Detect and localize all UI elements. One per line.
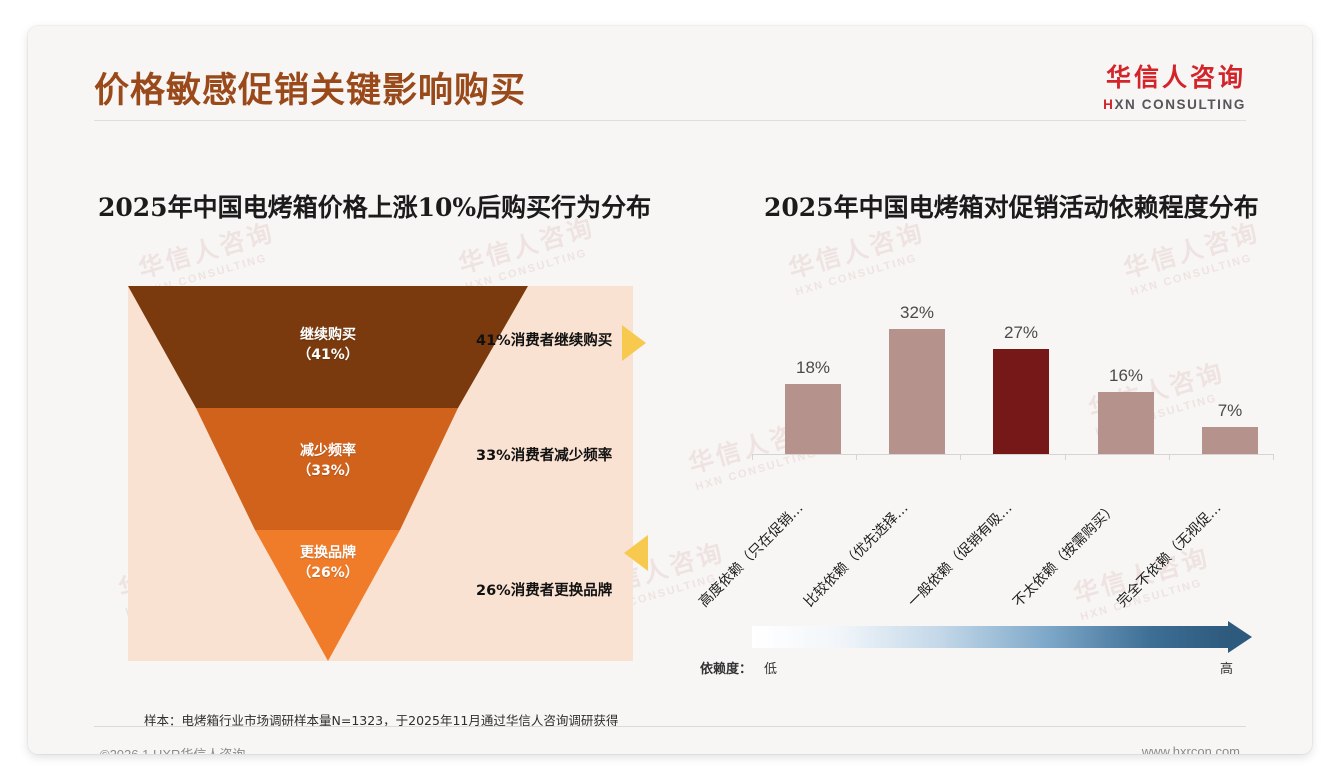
funnel-segment-1-name: 继续购买 — [300, 327, 356, 343]
funnel-chart-panel: 继续购买 （41%） 减少频率 （33%） 更换品牌 （26%） 41%消费者继… — [128, 286, 633, 661]
funnel-segment-2-label: 减少频率 （33%） — [128, 442, 528, 482]
funnel-segment-1-label: 继续购买 （41%） — [128, 326, 528, 366]
bar-value-2: 27% — [993, 323, 1049, 343]
funnel-segment-2-value: （33%） — [297, 463, 359, 479]
triangle-left-icon — [624, 535, 648, 571]
gradient-bar — [752, 626, 1228, 648]
logo-en-rest: XN CONSULTING — [1114, 97, 1246, 112]
funnel-segment-1-value: （41%） — [297, 347, 359, 363]
logo-en-prefix: H — [1103, 97, 1114, 112]
bar-4[interactable] — [1202, 427, 1258, 454]
bar-category-1: 比较依赖（优先选择… — [799, 498, 912, 611]
funnel-segment-3-value: （26%） — [297, 565, 359, 581]
gradient-low-label: 低 — [764, 658, 777, 677]
brand-logo: 华信人咨询 HXN CONSULTING — [1103, 58, 1246, 112]
bar-category-2: 一般依赖（促销有吸… — [903, 498, 1016, 611]
watermark: 华信人咨询 HXN CONSULTING — [784, 213, 932, 299]
watermark-en: HXN CONSULTING — [1129, 248, 1267, 298]
logo-english-text: HXN CONSULTING — [1103, 97, 1246, 112]
bar-0[interactable] — [785, 384, 841, 454]
funnel-segment-3-label: 更换品牌 （26%） — [128, 544, 528, 584]
bar-value-0: 18% — [785, 358, 841, 378]
gradient-high-label: 高 — [1220, 658, 1233, 677]
right-chart-title: 2025年中国电烤箱对促销活动依赖程度分布 — [764, 188, 1259, 224]
bar-value-4: 7% — [1202, 401, 1258, 421]
bar-1[interactable] — [889, 329, 945, 454]
funnel-segment-3-name: 更换品牌 — [300, 545, 356, 561]
axis-tick — [1273, 454, 1274, 460]
axis-tick — [960, 454, 961, 460]
bar-2[interactable] — [993, 349, 1049, 454]
logo-chinese-text: 华信人咨询 — [1103, 58, 1246, 94]
axis-tick — [752, 454, 753, 460]
bar-category-0: 高度依赖（只在促销… — [694, 498, 807, 611]
copyright-text: ©2026.1 HXR华信人咨询 — [100, 744, 245, 754]
funnel-note-1: 41%消费者继续购买 — [476, 329, 612, 350]
slide-canvas: 华信人咨询 HXN CONSULTING 华信人咨询 HXN CONSULTIN… — [28, 26, 1312, 754]
triangle-right-icon — [622, 325, 646, 361]
website-link[interactable]: www.hxrcon.com — [1142, 744, 1240, 754]
bar-category-4: 完全不依赖（无视促… — [1112, 498, 1225, 611]
dependency-gradient-legend — [752, 626, 1252, 648]
axis-tick — [1169, 454, 1170, 460]
page-title: 价格敏感促销关键影响购买 — [94, 62, 526, 113]
funnel-note-2: 33%消费者减少频率 — [476, 444, 612, 465]
bar-value-1: 32% — [889, 303, 945, 323]
watermark: 华信人咨询 HXN CONSULTING — [1119, 213, 1267, 299]
watermark-en: HXN CONSULTING — [794, 248, 932, 298]
bar-3[interactable] — [1098, 392, 1154, 454]
bar-value-3: 16% — [1098, 366, 1154, 386]
gradient-caption: 依赖度： — [700, 658, 752, 677]
left-chart-title: 2025年中国电烤箱价格上涨10%后购买行为分布 — [98, 188, 651, 224]
bar-chart-baseline — [752, 454, 1274, 455]
footer-divider — [94, 726, 1246, 727]
funnel-note-3: 26%消费者更换品牌 — [476, 579, 612, 600]
axis-tick — [1065, 454, 1066, 460]
funnel-segment-2-name: 减少频率 — [300, 443, 356, 459]
axis-tick — [856, 454, 857, 460]
header-divider — [94, 120, 1246, 121]
arrow-head-icon — [1228, 621, 1252, 653]
bar-category-3: 不太依赖（按需购买） — [1008, 498, 1121, 611]
